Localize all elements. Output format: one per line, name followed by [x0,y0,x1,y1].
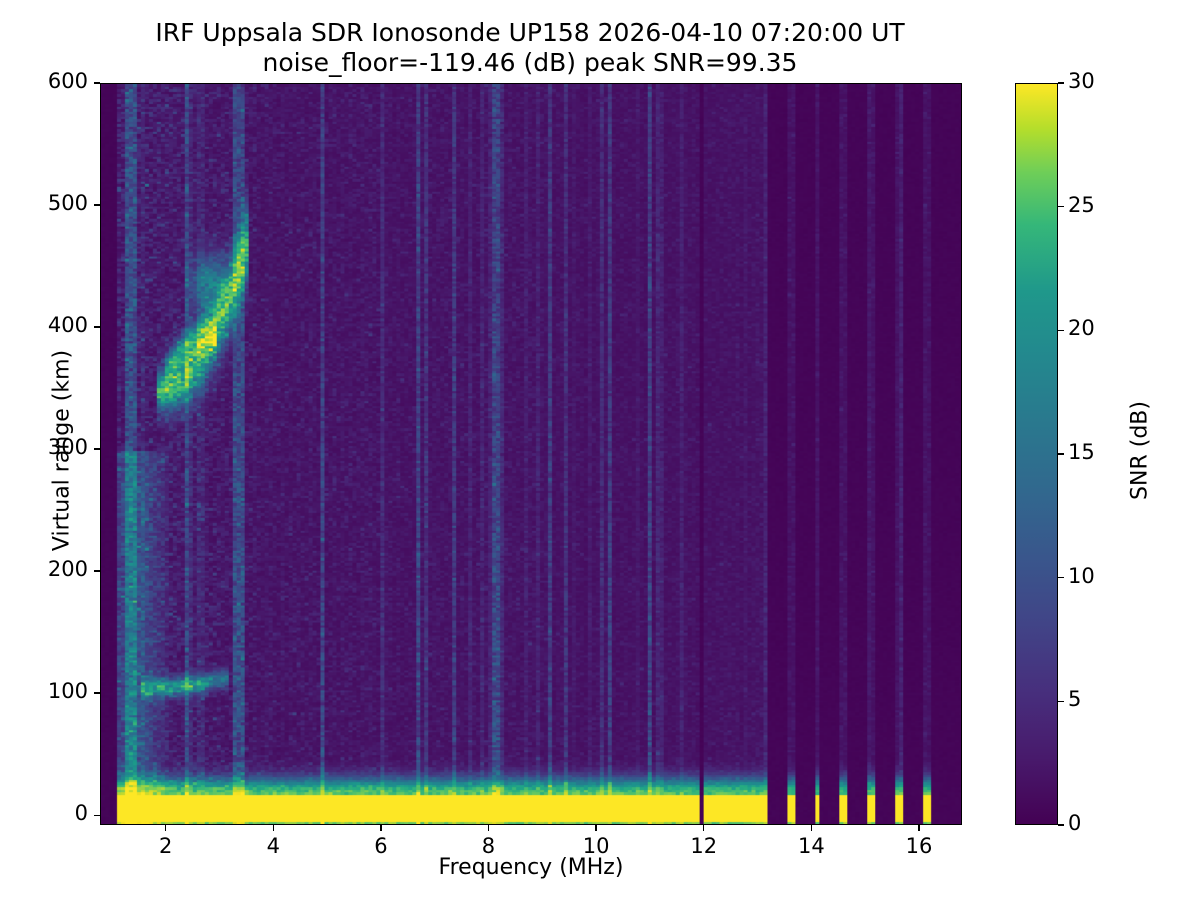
y-tick-mark [94,326,100,327]
y-tick-label: 100 [0,679,88,703]
y-tick-label: 300 [0,435,88,459]
colorbar-tick-label: 20 [1068,316,1095,340]
x-tick-mark [380,825,381,831]
colorbar-tick-mark [1058,824,1064,825]
x-tick-label: 4 [233,834,313,858]
y-tick-label: 600 [0,69,88,93]
y-tick-label: 500 [0,191,88,215]
colorbar-label: SNR (dB) [1128,311,1153,591]
colorbar-tick-label: 15 [1068,440,1095,464]
y-tick-mark [94,204,100,205]
x-tick-mark [273,825,274,831]
colorbar-tick-mark [1058,82,1064,83]
colorbar-tick-label: 5 [1068,687,1081,711]
ionogram-heatmap-canvas [101,84,961,824]
x-tick-label: 10 [556,834,636,858]
x-tick-label: 16 [879,834,959,858]
x-axis-label: Frequency (MHz) [100,855,962,880]
title-line-2: noise_floor=-119.46 (dB) peak SNR=99.35 [0,48,1060,78]
colorbar-tick-mark [1058,330,1064,331]
y-tick-mark [94,815,100,816]
y-tick-mark [94,692,100,693]
x-tick-mark [595,825,596,831]
x-tick-mark [488,825,489,831]
ionogram-plot-area [100,83,962,825]
x-tick-label: 14 [771,834,851,858]
title-line-1: IRF Uppsala SDR Ionosonde UP158 2026-04-… [0,18,1060,48]
y-tick-label: 0 [0,801,88,825]
colorbar-tick-mark [1058,206,1064,207]
x-tick-mark [811,825,812,831]
y-tick-label: 400 [0,313,88,337]
figure-title: IRF Uppsala SDR Ionosonde UP158 2026-04-… [0,18,1060,78]
x-tick-mark [165,825,166,831]
x-tick-label: 8 [448,834,528,858]
x-tick-label: 12 [664,834,744,858]
colorbar-tick-mark [1058,453,1064,454]
colorbar-tick-mark [1058,577,1064,578]
ionogram-figure: IRF Uppsala SDR Ionosonde UP158 2026-04-… [0,0,1200,900]
x-tick-label: 6 [341,834,421,858]
colorbar-tick-label: 10 [1068,564,1095,588]
x-tick-mark [703,825,704,831]
y-tick-mark [94,448,100,449]
colorbar-tick-label: 30 [1068,69,1095,93]
y-tick-mark [94,82,100,83]
x-tick-label: 2 [126,834,206,858]
x-tick-mark [918,825,919,831]
snr-colorbar [1015,83,1058,825]
colorbar-tick-mark [1058,701,1064,702]
colorbar-tick-label: 25 [1068,193,1095,217]
y-tick-label: 200 [0,557,88,581]
colorbar-tick-label: 0 [1068,811,1081,835]
y-tick-mark [94,570,100,571]
